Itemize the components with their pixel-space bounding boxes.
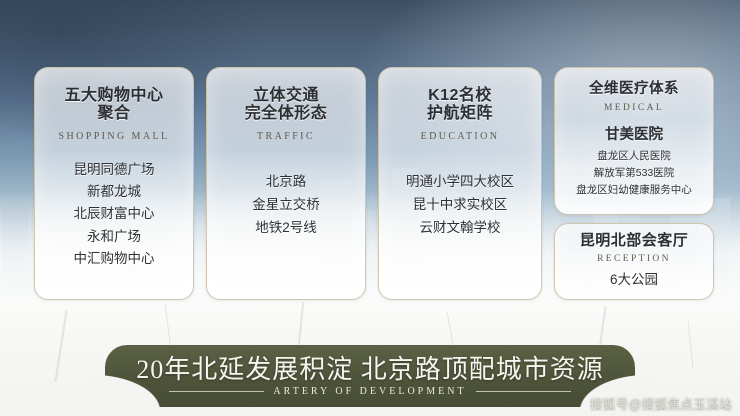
card-medical-subtitle: MEDICAL: [555, 103, 713, 113]
card-education-title: K12名校 护航矩阵: [379, 68, 541, 123]
card-shopping-subtitle: SHOPPING MALL: [35, 131, 193, 142]
card-traffic-list: 北京路 金星立交桥 地铁2号线: [207, 170, 365, 240]
list-item: 北京路: [207, 170, 365, 193]
card-medical-lead: 甘美医院: [555, 123, 713, 144]
card-reception-title: 昆明北部会客厅: [555, 224, 713, 250]
list-item: 北辰财富中心: [35, 203, 193, 225]
card-medical-list: 盘龙区人民医院 解放军第533医院 盘龙区妇幼健康服务中心: [555, 148, 713, 199]
banner-subtitle: ARTERY OF DEVELOPMENT: [273, 386, 466, 397]
list-item: 新都龙城: [35, 181, 193, 203]
banner-subtitle-row: ARTERY OF DEVELOPMENT: [105, 386, 635, 397]
card-reception[interactable]: 昆明北部会客厅 RECEPTION 6大公园: [554, 223, 714, 300]
card-education-list: 明通小学四大校区 昆十中求实校区 云财文翰学校: [379, 170, 541, 240]
card-education[interactable]: K12名校 护航矩阵 EDUCATION 明通小学四大校区 昆十中求实校区 云财…: [378, 67, 542, 300]
list-item: 昆十中求实校区: [379, 193, 541, 216]
list-item: 解放军第533医院: [555, 165, 713, 182]
banner-title: 20年北延发展积淀 北京路顶配城市资源: [105, 349, 635, 386]
list-item: 盘龙区妇幼健康服务中心: [555, 182, 713, 199]
list-item: 地铁2号线: [207, 216, 365, 239]
watermark: 搜狐号@搜狐焦点玉溪站: [590, 393, 732, 412]
card-traffic-subtitle: TRAFFIC: [207, 131, 365, 142]
card-traffic[interactable]: 立体交通 完全体形态 TRAFFIC 北京路 金星立交桥 地铁2号线: [206, 67, 366, 300]
list-item: 云财文翰学校: [379, 216, 541, 239]
list-item: 昆明同德广场: [35, 159, 193, 181]
list-item: 永和广场: [35, 226, 193, 248]
card-medical-title: 全维医疗体系: [555, 68, 713, 97]
bottom-banner: 20年北延发展积淀 北京路顶配城市资源 ARTERY OF DEVELOPMEN…: [105, 345, 635, 407]
list-item: 6大公园: [555, 270, 713, 291]
list-item: 金星立交桥: [207, 193, 365, 216]
feature-card-grid: 五大购物中心 聚合 SHOPPING MALL 昆明同德广场 新都龙城 北辰财富…: [0, 0, 740, 330]
list-item: 中汇购物中心: [35, 248, 193, 270]
card-shopping-list: 昆明同德广场 新都龙城 北辰财富中心 永和广场 中汇购物中心: [35, 159, 193, 270]
list-item: 盘龙区人民医院: [555, 148, 713, 165]
card-traffic-title: 立体交通 完全体形态: [207, 68, 365, 123]
card-reception-list: 6大公园: [555, 270, 713, 291]
list-item: 明通小学四大校区: [379, 170, 541, 193]
card-shopping-title: 五大购物中心 聚合: [35, 68, 193, 123]
banner-rule-left: [169, 391, 264, 392]
slide-root: 五大购物中心 聚合 SHOPPING MALL 昆明同德广场 新都龙城 北辰财富…: [0, 0, 740, 416]
banner-rule-right: [476, 391, 571, 392]
card-reception-subtitle: RECEPTION: [555, 254, 713, 264]
card-medical[interactable]: 全维医疗体系 MEDICAL 甘美医院 盘龙区人民医院 解放军第533医院 盘龙…: [554, 67, 714, 215]
card-shopping[interactable]: 五大购物中心 聚合 SHOPPING MALL 昆明同德广场 新都龙城 北辰财富…: [34, 67, 194, 300]
card-education-subtitle: EDUCATION: [379, 131, 541, 142]
